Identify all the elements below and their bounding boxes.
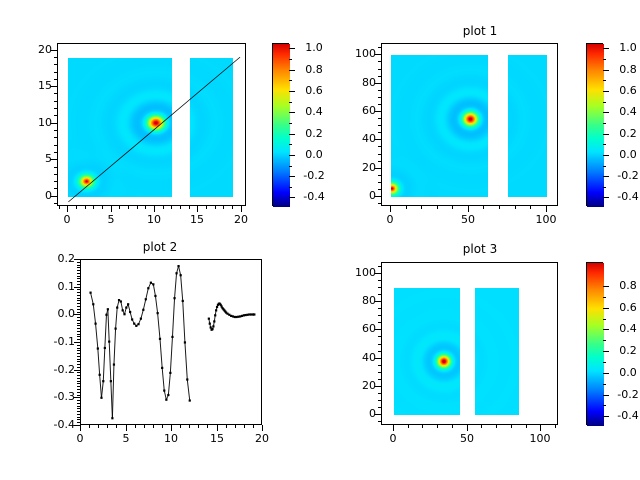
- axis-tick: [54, 203, 57, 204]
- axis-tick: [77, 353, 80, 354]
- axis-tick: [163, 206, 164, 209]
- axis-tick: [77, 284, 80, 285]
- axis-tick: [77, 400, 80, 401]
- axis-tick: [378, 139, 381, 140]
- axis-tick: [378, 414, 381, 415]
- panel-bottom-right: plot 3 050100020406080100 -0.4-0.20.00.2…: [320, 240, 640, 480]
- axis-tick: [77, 320, 80, 321]
- axis-tick: [77, 403, 80, 404]
- axis-tick: [54, 93, 57, 94]
- axis-tick: [526, 425, 527, 428]
- axis-tick-label: 100: [329, 267, 376, 278]
- colorbar-gradient-top-left: [273, 44, 290, 207]
- axis-tick: [378, 329, 381, 330]
- axis-tick: [89, 425, 90, 428]
- axis-tick: [77, 411, 80, 412]
- axis-tick: [378, 400, 381, 401]
- axis-tick: [54, 188, 57, 189]
- axis-tick-label: -0.4: [611, 410, 640, 421]
- axis-tick-label: 20: [5, 44, 52, 55]
- axis-tick: [378, 372, 381, 373]
- axis-tick: [77, 364, 80, 365]
- axis-tick: [540, 425, 541, 428]
- axis-tick: [289, 70, 295, 71]
- axis-tick: [378, 287, 381, 288]
- axis-tick: [378, 315, 381, 316]
- colorbar-gradient-top-right: [587, 44, 604, 207]
- axis-tick: [207, 425, 208, 428]
- axis-tick: [77, 386, 80, 387]
- axis-tick: [223, 206, 224, 209]
- axis-tick: [467, 425, 468, 428]
- axis-tick-label: 0: [329, 408, 376, 419]
- axis-tick: [77, 336, 80, 337]
- axis-tick: [603, 405, 606, 406]
- axis-tick: [77, 317, 80, 318]
- panel-top-left: 0510152005101520 -0.4-0.20.00.20.40.60.8…: [0, 0, 320, 240]
- diagonal-reference-line: [68, 57, 240, 202]
- axis-tick: [77, 309, 80, 310]
- axis-tick: [378, 386, 381, 387]
- axes-top-right: [381, 43, 558, 206]
- axis-tick: [144, 425, 145, 428]
- axis-tick: [77, 408, 80, 409]
- axis-tick: [54, 123, 57, 124]
- axis-tick: [180, 206, 181, 209]
- axis-tick-label: 0.6: [611, 85, 640, 96]
- axis-tick: [378, 182, 381, 183]
- axis-tick: [378, 203, 381, 204]
- axis-tick: [437, 425, 438, 428]
- axis-tick: [98, 425, 99, 428]
- axis-tick: [54, 159, 57, 160]
- axis-tick: [77, 289, 80, 290]
- axis-tick: [54, 64, 57, 65]
- axis-tick: [77, 325, 80, 326]
- axis-tick: [135, 425, 136, 428]
- axis-tick: [603, 308, 609, 309]
- axis-tick: [77, 298, 80, 299]
- axis-tick-label: -0.3: [28, 391, 75, 402]
- axis-tick: [437, 206, 438, 209]
- axis-tick: [137, 206, 138, 209]
- axis-tick-label: 15: [177, 214, 217, 225]
- axis-tick: [111, 206, 112, 209]
- axis-tick: [77, 323, 80, 324]
- axis-tick-label: 0.8: [611, 280, 640, 291]
- axis-tick: [378, 393, 381, 394]
- axis-tick: [378, 125, 381, 126]
- axis-tick: [289, 144, 292, 145]
- axis-tick-label: 0.1: [28, 281, 75, 292]
- axis-tick-label: 80: [329, 295, 376, 306]
- axis-tick: [54, 115, 57, 116]
- axis-tick: [378, 351, 381, 352]
- axis-tick: [54, 196, 57, 197]
- axis-tick: [76, 206, 77, 209]
- axis-tick: [54, 152, 57, 153]
- axis-tick-label: 20: [242, 433, 282, 444]
- axis-tick-label: 0.4: [611, 323, 640, 334]
- axis-tick-label: 40: [329, 133, 376, 144]
- axis-tick: [153, 425, 154, 428]
- axis-tick-label: 20: [221, 214, 261, 225]
- axis-tick: [54, 145, 57, 146]
- axis-tick-label: 100: [526, 214, 566, 225]
- axis-tick: [59, 206, 60, 209]
- axis-tick: [603, 362, 606, 363]
- axis-tick: [77, 306, 80, 307]
- axis-tick: [189, 206, 190, 209]
- axis-tick: [378, 76, 381, 77]
- axis-tick: [421, 206, 422, 209]
- axis-tick-label: 0: [370, 214, 410, 225]
- axis-tick: [378, 336, 381, 337]
- axis-tick-label: 60: [329, 323, 376, 334]
- axis-tick: [77, 300, 80, 301]
- axis-tick: [378, 379, 381, 380]
- axis-tick: [603, 112, 609, 113]
- heatmap-canvas-bottom-right: [382, 263, 558, 425]
- axis-tick: [171, 425, 172, 428]
- axis-tick: [77, 265, 80, 266]
- axis-tick: [603, 176, 609, 177]
- axis-tick: [603, 416, 609, 417]
- axis-tick: [378, 407, 381, 408]
- axis-tick: [499, 206, 500, 209]
- axis-tick-label: 15: [197, 433, 237, 444]
- axis-tick: [289, 102, 292, 103]
- axis-tick: [54, 50, 57, 51]
- axis-tick: [54, 130, 57, 131]
- axis-tick: [603, 384, 606, 385]
- axis-tick: [603, 123, 606, 124]
- axis-tick: [378, 189, 381, 190]
- axis-tick-label: 0.6: [611, 302, 640, 313]
- axis-tick-label: 50: [448, 214, 488, 225]
- axis-tick-label: 0: [373, 433, 413, 444]
- axis-tick-label: 20: [329, 380, 376, 391]
- axis-tick: [378, 421, 381, 422]
- axis-tick: [603, 144, 606, 145]
- axis-tick-label: -0.4: [28, 419, 75, 430]
- colorbar-top-left: [272, 43, 289, 206]
- axis-tick: [289, 80, 292, 81]
- axis-tick: [77, 273, 80, 274]
- axis-tick-label: 60: [329, 105, 376, 116]
- axis-tick-label: 0.4: [611, 106, 640, 117]
- axis-tick: [77, 270, 80, 271]
- axis-tick: [511, 425, 512, 428]
- axis-tick-label: 10: [5, 117, 52, 128]
- axis-tick: [77, 276, 80, 277]
- axis-tick: [378, 266, 381, 267]
- axis-tick: [77, 314, 80, 315]
- axis-tick-label: -0.2: [611, 389, 640, 400]
- axis-tick: [126, 425, 127, 428]
- axes-top-left: [57, 43, 246, 206]
- axis-tick: [128, 206, 129, 209]
- axis-tick-label: 0.0: [611, 149, 640, 160]
- axis-tick-label: 0.2: [611, 128, 640, 139]
- axis-tick: [77, 361, 80, 362]
- axis-tick: [85, 206, 86, 209]
- axis-tick: [77, 267, 80, 268]
- panel-top-right-title: plot 1: [320, 24, 640, 38]
- axis-tick: [378, 154, 381, 155]
- axis-tick: [378, 69, 381, 70]
- axis-tick: [197, 206, 198, 209]
- axis-tick: [378, 47, 381, 48]
- axis-tick: [452, 425, 453, 428]
- axis-tick: [378, 168, 381, 169]
- axis-tick: [452, 206, 453, 209]
- axis-tick: [77, 425, 80, 426]
- axis-tick: [77, 370, 80, 371]
- heatmap-canvas-top-right: [382, 44, 558, 206]
- axis-tick: [603, 319, 606, 320]
- axis-tick: [289, 176, 295, 177]
- axis-tick: [54, 101, 57, 102]
- axis-tick: [77, 397, 80, 398]
- axis-tick: [77, 378, 80, 379]
- axis-tick: [171, 206, 172, 209]
- axis-tick: [235, 425, 236, 428]
- axis-tick: [289, 155, 295, 156]
- axis-tick: [289, 197, 295, 198]
- axis-tick: [107, 425, 108, 428]
- axis-tick-label: 0: [47, 214, 87, 225]
- axis-tick: [116, 425, 117, 428]
- axis-tick-label: 0.0: [611, 367, 640, 378]
- axis-tick: [145, 206, 146, 209]
- axis-tick: [378, 301, 381, 302]
- axis-tick: [603, 70, 609, 71]
- axis-tick: [77, 312, 80, 313]
- axis-tick-label: 40: [329, 352, 376, 363]
- axis-tick: [603, 395, 609, 396]
- axis-tick: [77, 381, 80, 382]
- axis-tick: [77, 287, 80, 288]
- axis-tick: [555, 425, 556, 428]
- axis-tick-label: 100: [329, 48, 376, 59]
- axis-tick: [54, 108, 57, 109]
- axis-tick: [378, 344, 381, 345]
- axis-tick-label: 0.2: [28, 253, 75, 264]
- axis-tick: [603, 187, 606, 188]
- colorbar-bottom-right: [586, 262, 603, 425]
- axis-tick: [77, 406, 80, 407]
- axis-tick-label: 0: [5, 190, 52, 201]
- axis-tick-label: 1.0: [611, 42, 640, 53]
- axis-tick: [198, 425, 199, 428]
- axis-tick: [77, 331, 80, 332]
- axis-tick: [603, 286, 609, 287]
- axis-tick: [215, 206, 216, 209]
- axis-tick: [378, 161, 381, 162]
- axis-tick: [378, 358, 381, 359]
- axis-tick: [378, 308, 381, 309]
- axis-tick: [289, 166, 292, 167]
- axis-tick-label: 0.2: [611, 345, 640, 356]
- axis-tick-label: 20: [329, 162, 376, 173]
- axis-tick: [77, 356, 80, 357]
- axis-tick: [180, 425, 181, 428]
- axis-tick: [515, 206, 516, 209]
- axis-tick: [422, 425, 423, 428]
- axis-tick: [393, 425, 394, 428]
- axis-tick: [77, 414, 80, 415]
- axis-tick-label: 5: [91, 214, 131, 225]
- axis-tick: [54, 167, 57, 168]
- axis-tick: [378, 146, 381, 147]
- colorbar-top-right: [586, 43, 603, 206]
- axis-tick: [603, 48, 609, 49]
- axis-tick: [77, 372, 80, 373]
- axis-tick: [77, 345, 80, 346]
- axis-tick: [93, 206, 94, 209]
- axis-tick: [483, 206, 484, 209]
- axis-tick-label: 5: [5, 153, 52, 164]
- axes-bottom-right: [381, 262, 558, 425]
- axis-tick: [378, 365, 381, 366]
- axis-tick: [378, 322, 381, 323]
- panel-bottom-left: plot 2 05101520-0.4-0.3-0.2-0.10.00.10.2: [0, 240, 320, 480]
- axis-tick: [378, 111, 381, 112]
- axis-tick-label: 50: [447, 433, 487, 444]
- axis-tick: [603, 59, 606, 60]
- axis-tick: [378, 118, 381, 119]
- axis-tick: [530, 206, 531, 209]
- axis-tick: [80, 425, 81, 428]
- axis-tick: [262, 425, 263, 428]
- axis-tick: [77, 359, 80, 360]
- axis-tick: [77, 383, 80, 384]
- axis-tick: [77, 350, 80, 351]
- axis-tick: [241, 206, 242, 209]
- panel-top-right: plot 1 050100020406080100 -0.4-0.20.00.2…: [320, 0, 640, 240]
- axis-tick: [77, 375, 80, 376]
- axis-tick-label: 5: [106, 433, 146, 444]
- axis-tick: [77, 342, 80, 343]
- axis-tick: [54, 174, 57, 175]
- axis-tick: [77, 417, 80, 418]
- axis-tick: [77, 292, 80, 293]
- axis-tick: [378, 132, 381, 133]
- axis-tick: [378, 196, 381, 197]
- axis-tick: [102, 206, 103, 209]
- axis-tick: [77, 395, 80, 396]
- axis-tick: [408, 425, 409, 428]
- axis-tick: [378, 90, 381, 91]
- axis-tick: [496, 425, 497, 428]
- axis-tick: [603, 197, 609, 198]
- axis-tick: [546, 206, 547, 209]
- axis-tick: [244, 425, 245, 428]
- axis-tick: [154, 206, 155, 209]
- axis-tick: [468, 206, 469, 209]
- axis-tick: [603, 297, 606, 298]
- axis-tick: [189, 425, 190, 428]
- axis-tick-label: 10: [151, 433, 191, 444]
- axis-tick-label: 80: [329, 77, 376, 88]
- axis-tick: [162, 425, 163, 428]
- panel-bottom-left-title: plot 2: [0, 240, 320, 254]
- axis-tick: [289, 123, 292, 124]
- axis-tick: [54, 181, 57, 182]
- axis-tick: [217, 425, 218, 428]
- axis-tick-label: 0.8: [611, 64, 640, 75]
- axis-tick: [289, 187, 292, 188]
- axis-tick-label: 100: [520, 433, 560, 444]
- axis-tick: [378, 294, 381, 295]
- axis-tick: [77, 328, 80, 329]
- axis-tick: [77, 348, 80, 349]
- axis-tick: [77, 303, 80, 304]
- axis-tick-label: 15: [5, 80, 52, 91]
- axis-tick-label: -0.2: [611, 170, 640, 181]
- axes-bottom-left: [80, 259, 262, 425]
- axis-tick: [378, 175, 381, 176]
- axis-tick: [603, 166, 606, 167]
- panel-bottom-right-title: plot 3: [320, 242, 640, 256]
- axis-tick: [378, 104, 381, 105]
- axis-tick: [378, 54, 381, 55]
- axis-tick: [378, 61, 381, 62]
- axis-tick: [289, 134, 295, 135]
- axis-tick: [77, 392, 80, 393]
- axis-tick: [67, 206, 68, 209]
- axis-tick: [378, 97, 381, 98]
- axis-tick: [232, 206, 233, 209]
- axis-tick: [77, 281, 80, 282]
- axis-tick: [77, 334, 80, 335]
- axis-tick: [603, 329, 609, 330]
- axis-tick: [206, 206, 207, 209]
- axis-tick: [390, 206, 391, 209]
- axis-tick-label: 0: [60, 433, 100, 444]
- axis-tick-label: -0.4: [611, 191, 640, 202]
- axis-tick: [481, 425, 482, 428]
- axis-tick: [77, 278, 80, 279]
- axis-tick: [603, 80, 606, 81]
- axis-tick: [603, 373, 609, 374]
- axis-tick: [54, 79, 57, 80]
- axis-tick: [406, 206, 407, 209]
- axis-tick: [226, 425, 227, 428]
- axis-tick: [54, 72, 57, 73]
- axis-tick: [289, 91, 295, 92]
- axis-tick: [603, 102, 606, 103]
- axis-tick: [77, 419, 80, 420]
- axis-tick-label: 0.0: [28, 308, 75, 319]
- axis-tick: [77, 295, 80, 296]
- axis-tick: [77, 339, 80, 340]
- axis-tick: [289, 48, 295, 49]
- axis-tick: [603, 340, 606, 341]
- axis-tick-label: 10: [134, 214, 174, 225]
- line-plot-canvas: [81, 260, 262, 425]
- axis-tick: [253, 425, 254, 428]
- axis-tick: [603, 155, 609, 156]
- axis-tick: [378, 83, 381, 84]
- axis-tick: [603, 91, 609, 92]
- axis-tick: [77, 389, 80, 390]
- colorbar-gradient-bottom-right: [587, 263, 604, 426]
- axis-tick: [54, 137, 57, 138]
- axis-tick: [378, 273, 381, 274]
- axis-tick: [119, 206, 120, 209]
